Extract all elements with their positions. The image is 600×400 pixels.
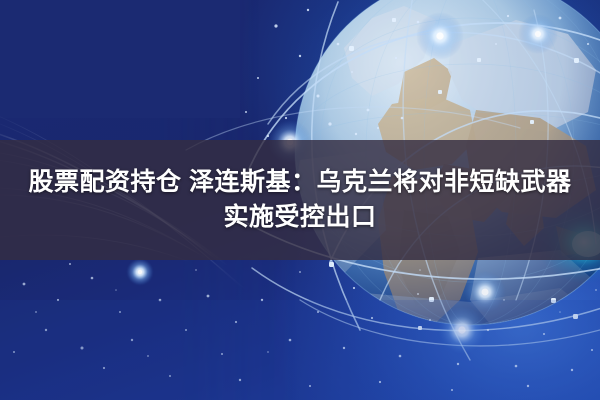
news-banner-image: 股票配资持仓 泽连斯基：乌克兰将对非短缺武器 实施受控出口 <box>0 0 600 400</box>
headline-overlay-band <box>0 140 600 260</box>
